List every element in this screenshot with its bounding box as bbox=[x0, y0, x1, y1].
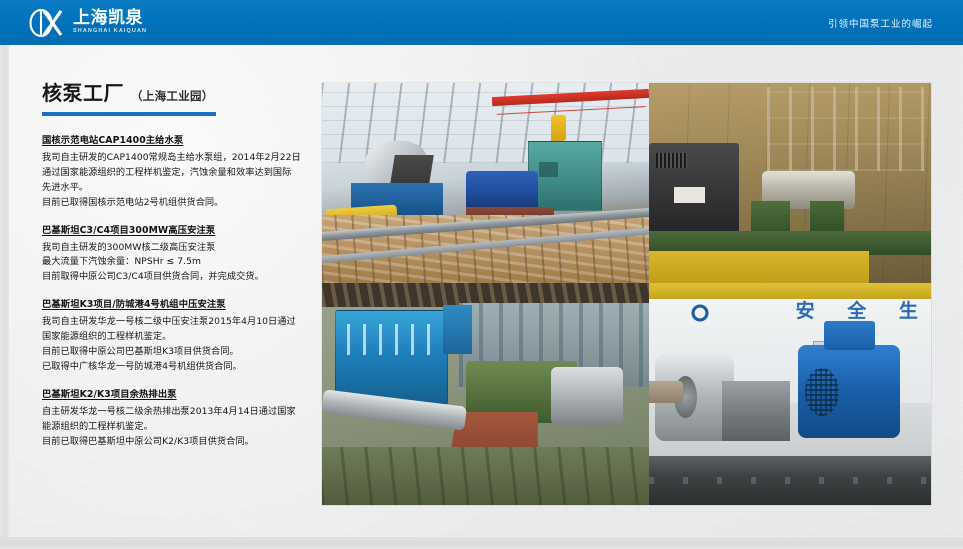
slide-left-edge bbox=[0, 45, 9, 549]
text-block-heading: 巴基斯坦C3/C4项目300MW高压安注泵 bbox=[42, 224, 304, 238]
text-block-heading: 国核示范电站CAP1400主给水泵 bbox=[42, 134, 304, 148]
blue-pump-body bbox=[466, 171, 538, 211]
header-bar: 上海凯泉 SHANGHAI KAIQUAN 引领中国泵工业的崛起 bbox=[0, 0, 963, 45]
text-block-line: 目前已取得巴基斯坦中原公司K2/K3项目供货合同。 bbox=[42, 435, 304, 450]
page-title: 核泵工厂 （上海工业园） bbox=[42, 60, 304, 106]
text-block-line: 目前已取得国核示范电站2号机组供货合同。 bbox=[42, 196, 304, 211]
blue-motor bbox=[335, 310, 448, 405]
text-block-line: 能源组织的工程样机鉴定。 bbox=[42, 420, 304, 435]
text-block-line: 最大流量下汽蚀余量：NPSHr ≤ 7.5m bbox=[42, 255, 304, 270]
kaiquan-logo-mark-icon bbox=[28, 8, 66, 38]
handwheel-valve-icon bbox=[686, 299, 714, 328]
text-block: 国核示范电站CAP1400主给水泵 我司自主研发的CAP1400常规岛主给水泵组… bbox=[42, 134, 304, 211]
photo-factory-hall-feedwater-pump-test-rig bbox=[322, 83, 649, 283]
text-block: 巴基斯坦C3/C4项目300MW高压安注泵 我司自主研发的300MW核二级高压安… bbox=[42, 224, 304, 286]
photo-grid: 安 全 生 bbox=[322, 83, 931, 505]
page-title-main: 核泵工厂 bbox=[42, 77, 124, 106]
blue-motor bbox=[798, 345, 900, 438]
motor-terminal-box bbox=[824, 321, 875, 350]
header-tagline: 引领中国泵工业的崛起 bbox=[828, 16, 933, 30]
text-block-line: 国家能源组织的工程样机鉴定。 bbox=[42, 330, 304, 345]
content-left-column: 核泵工厂 （上海工业园） 国核示范电站CAP1400主给水泵 我司自主研发的CA… bbox=[42, 60, 304, 449]
steel-skid-frame bbox=[649, 456, 931, 505]
yellow-floor bbox=[649, 251, 869, 283]
crane-hook bbox=[551, 115, 566, 141]
page-title-sub: （上海工业园） bbox=[131, 88, 214, 104]
text-block-line: 已取得中广核华龙一号防城港4号机组供货合同。 bbox=[42, 360, 304, 375]
photo-blue-motor-green-pump-test-bed bbox=[322, 283, 649, 505]
green-bearing-housing-right bbox=[810, 201, 844, 233]
text-block-line: 自主研发华龙一号核二级余热排出泵2013年4月14日通过国家 bbox=[42, 405, 304, 420]
text-block-heading: 巴基斯坦K2/K3项目余热排出泵 bbox=[42, 388, 304, 402]
text-block-line: 我司自主研发的CAP1400常规岛主给水泵组，2014年2月22日 bbox=[42, 151, 304, 166]
nameplate bbox=[674, 187, 705, 203]
green-bearing-housing-left bbox=[751, 201, 790, 233]
text-block-list: 国核示范电站CAP1400主给水泵 我司自主研发的CAP1400常规岛主给水泵组… bbox=[42, 134, 304, 449]
text-block-line: 目前已取得中原公司巴基斯坦K3项目供货合同。 bbox=[42, 345, 304, 360]
text-block-line: 目前取得中原公司C3/C4项目供货合同，并完成交货。 bbox=[42, 270, 304, 285]
text-block-line: 先进水平。 bbox=[42, 181, 304, 196]
suction-nozzle bbox=[649, 381, 683, 403]
text-block-line: 我司自主研发华龙一号核二级中压安注泵2015年4月10日通过 bbox=[42, 315, 304, 330]
text-block: 巴基斯坦K2/K3项目余热排出泵 自主研发华龙一号核二级余热排出泵2013年4月… bbox=[42, 388, 304, 450]
text-block-line: 我司自主研发的300MW核二级高压安注泵 bbox=[42, 241, 304, 256]
wall-safety-slogan: 安 全 生 bbox=[796, 296, 931, 323]
control-panel bbox=[443, 305, 472, 354]
bearing-pedestal bbox=[722, 381, 790, 441]
brand-logo[interactable]: 上海凯泉 SHANGHAI KAIQUAN bbox=[28, 8, 147, 38]
brand-name-en: SHANGHAI KAIQUAN bbox=[73, 29, 147, 35]
photo-plant-room-high-pressure-injection-pump bbox=[649, 83, 931, 283]
brand-name-cn: 上海凯泉 bbox=[73, 10, 147, 27]
photo-steel-casing-pump-blue-motor-skid: 安 全 生 bbox=[649, 283, 931, 505]
teal-motor-housing bbox=[528, 141, 602, 211]
overhead-pipework bbox=[767, 87, 925, 171]
text-block-line: 通过国家能源组织的工程样机鉴定，汽蚀余量和效率达到国际 bbox=[42, 166, 304, 181]
green-test-bed-deck bbox=[322, 447, 649, 505]
slide: 上海凯泉 SHANGHAI KAIQUAN 引领中国泵工业的崛起 核泵工厂 （上… bbox=[0, 0, 963, 549]
brand-logo-text: 上海凯泉 SHANGHAI KAIQUAN bbox=[73, 10, 147, 35]
title-underline-rule bbox=[42, 112, 216, 116]
steel-pump-head bbox=[551, 367, 623, 425]
text-block: 巴基斯坦K3项目/防城港4号机组中压安注泵 我司自主研发华龙一号核二级中压安注泵… bbox=[42, 298, 304, 375]
slide-bottom-edge bbox=[0, 537, 963, 549]
text-block-heading: 巴基斯坦K3项目/防城港4号机组中压安注泵 bbox=[42, 298, 304, 312]
